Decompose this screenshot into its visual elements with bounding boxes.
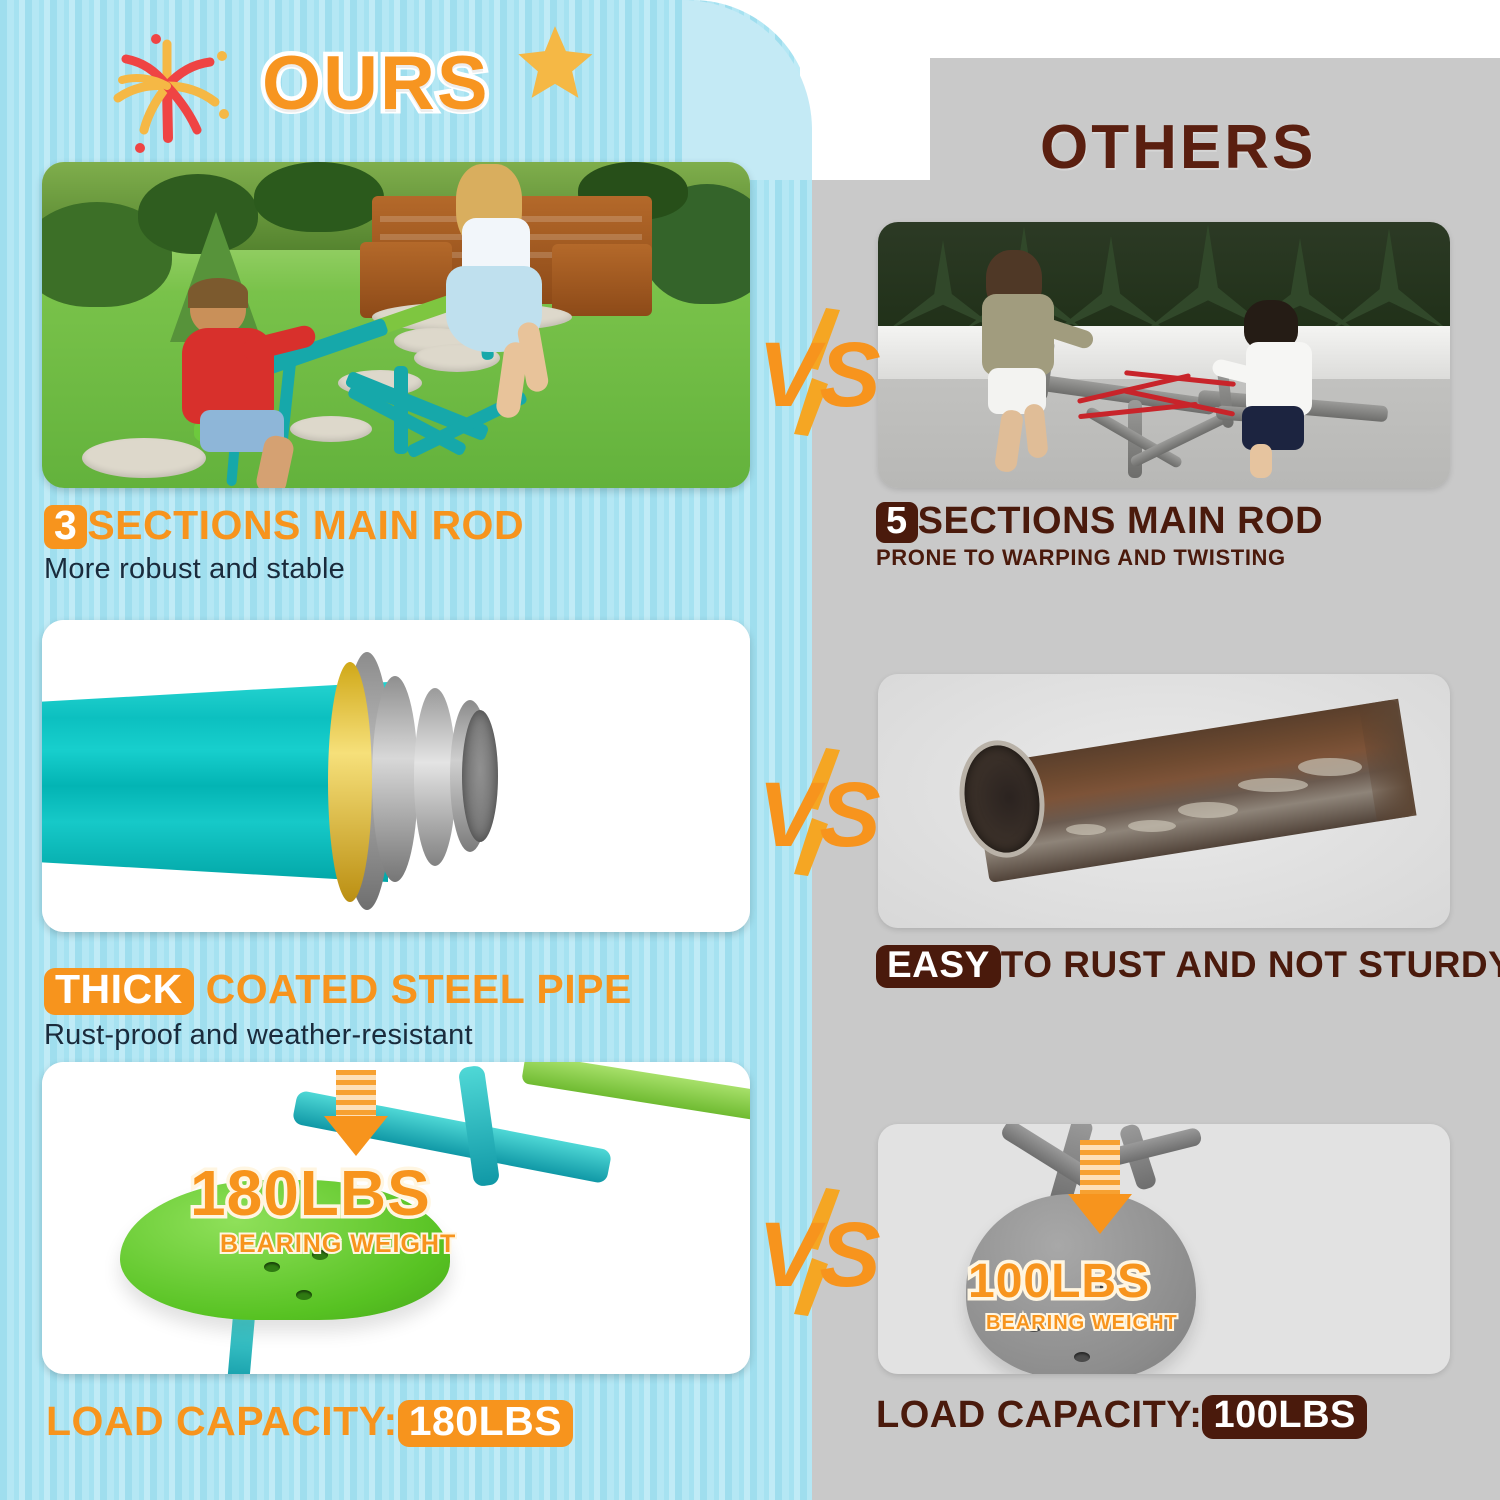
panel-ours: OURS bbox=[0, 0, 812, 1500]
ours-image-seat-capacity: 180LBS BEARING WEIGHT bbox=[42, 1062, 750, 1374]
ours-overlay-weight-sub: BEARING WEIGHT bbox=[220, 1230, 456, 1259]
ours-headline-steel-pipe: COATED STEEL PIPE bbox=[206, 966, 632, 1012]
ours-title: OURS bbox=[262, 40, 490, 127]
others-badge-sections: 5 bbox=[876, 502, 918, 543]
vs-label-3: VS bbox=[758, 1204, 881, 1306]
others-caption-rust: EASYTO RUST AND NOT STURDY bbox=[876, 944, 1500, 988]
others-pill-load-value: 100LBS bbox=[1202, 1395, 1366, 1439]
infographic-stage: OURS bbox=[0, 0, 1500, 1500]
ours-caption-steel-pipe: THICK COATED STEEL PIPE Rust-proof and w… bbox=[44, 966, 632, 1052]
vs-label-1: VS bbox=[758, 324, 881, 426]
vs-badge-row-3: VS bbox=[752, 1188, 892, 1318]
others-title: OTHERS bbox=[1040, 112, 1316, 183]
ours-pill-thick: THICK bbox=[44, 968, 194, 1015]
vs-label-2: VS bbox=[758, 764, 881, 866]
ours-sub-main-rod: More robust and stable bbox=[44, 553, 524, 586]
ours-sub-steel-pipe: Rust-proof and weather-resistant bbox=[44, 1019, 632, 1052]
others-pill-easy: EASY bbox=[876, 945, 1001, 988]
others-image-rusty-pipe bbox=[878, 674, 1450, 928]
others-headline-load-capacity: LOAD CAPACITY: bbox=[876, 1394, 1202, 1436]
others-image-patio-seesaw bbox=[878, 222, 1450, 488]
firework-icon bbox=[100, 26, 235, 156]
ours-badge-sections: 3 bbox=[44, 505, 87, 549]
ours-headline-main-rod: SECTIONS MAIN ROD bbox=[87, 502, 524, 548]
ours-header: OURS bbox=[0, 18, 812, 133]
others-headline-rust: TO RUST AND NOT STURDY bbox=[1001, 944, 1500, 985]
ours-image-coated-pipe bbox=[42, 620, 750, 932]
down-arrow-icon bbox=[324, 1070, 388, 1156]
others-caption-main-rod: 5SECTIONS MAIN ROD PRONE TO WARPING AND … bbox=[876, 500, 1323, 571]
others-caption-load-capacity: LOAD CAPACITY:100LBS bbox=[876, 1394, 1367, 1439]
ours-headline-load-capacity: LOAD CAPACITY: bbox=[46, 1398, 398, 1444]
ours-overlay-weight-value: 180LBS bbox=[190, 1156, 431, 1230]
vs-badge-row-1: VS bbox=[752, 308, 892, 438]
others-image-seat-capacity: 100LBS BEARING WEIGHT bbox=[878, 1124, 1450, 1374]
ours-caption-load-capacity: LOAD CAPACITY:180LBS bbox=[46, 1398, 573, 1447]
others-headline-main-rod: SECTIONS MAIN ROD bbox=[918, 500, 1323, 542]
star-icon bbox=[516, 23, 594, 101]
others-sub-main-rod: PRONE TO WARPING AND TWISTING bbox=[876, 545, 1323, 571]
others-overlay-weight-sub: BEARING WEIGHT bbox=[986, 1312, 1178, 1335]
ours-caption-main-rod: 3SECTIONS MAIN ROD More robust and stabl… bbox=[44, 502, 524, 586]
others-overlay-weight-value: 100LBS bbox=[968, 1254, 1150, 1309]
down-arrow-icon bbox=[1068, 1140, 1132, 1234]
ours-image-backyard-seesaw bbox=[42, 162, 750, 488]
vs-badge-row-2: VS bbox=[752, 748, 892, 878]
ours-pill-load-value: 180LBS bbox=[398, 1400, 573, 1447]
